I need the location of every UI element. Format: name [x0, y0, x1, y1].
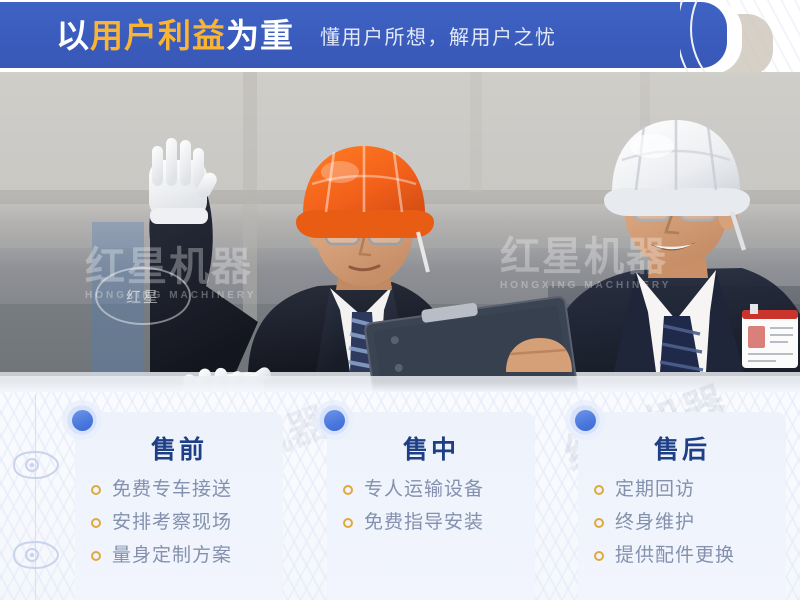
list-item[interactable]: 免费专车接送 — [91, 480, 283, 501]
card-item-list: 定期回访 终身维护 提供配件更换 — [578, 480, 786, 567]
list-item[interactable]: 终身维护 — [594, 513, 786, 534]
list-item-label: 安排考察现场 — [112, 513, 232, 534]
watermark-seal-icon: 红星 — [95, 267, 191, 325]
list-item[interactable]: 提供配件更换 — [594, 546, 786, 567]
list-item-label: 定期回访 — [615, 480, 695, 501]
list-item-label: 专人运输设备 — [364, 480, 484, 501]
bullet-circle-icon — [594, 485, 604, 495]
card-marker-dot-after-sale — [565, 400, 605, 440]
banner-title: 以用户利益为重 — [56, 19, 294, 52]
card-marker-dot-during-sale — [314, 400, 354, 440]
watermark-seal-label: 红星 — [126, 286, 160, 307]
hero-photo: 红星机器 HONGXING MACHINERY 红星机器 HONGXING MA… — [0, 72, 800, 392]
banner-subtitle: 懂用户所想，解用户之忧 — [320, 21, 557, 50]
card-marker-dot-pre-sale — [62, 400, 102, 440]
list-item[interactable]: 定期回访 — [594, 480, 786, 501]
list-item[interactable]: 免费指导安装 — [343, 513, 535, 534]
bullet-circle-icon — [343, 518, 353, 528]
service-cards: 售前 免费专车接送 安排考察现场 量身定制方案 售中 — [0, 398, 800, 600]
bullet-circle-icon — [91, 551, 101, 561]
bullet-circle-icon — [594, 518, 604, 528]
banner-title-highlight: 用户利益 — [90, 17, 226, 54]
card-title: 售后 — [578, 430, 786, 466]
service-card-after-sale[interactable]: 售后 定期回访 终身维护 提供配件更换 — [578, 412, 786, 600]
banner-title-prefix: 以 — [56, 17, 90, 54]
list-item-label: 免费指导安装 — [364, 513, 484, 534]
list-item-label: 终身维护 — [615, 513, 695, 534]
card-title: 售中 — [327, 430, 535, 466]
service-card-pre-sale[interactable]: 售前 免费专车接送 安排考察现场 量身定制方案 — [75, 412, 283, 600]
bullet-circle-icon — [91, 485, 101, 495]
card-item-list: 免费专车接送 安排考察现场 量身定制方案 — [75, 480, 283, 567]
bullet-circle-icon — [343, 485, 353, 495]
list-item[interactable]: 安排考察现场 — [91, 513, 283, 534]
header-banner: 以用户利益为重 懂用户所想，解用户之忧 — [0, 2, 727, 68]
card-item-list: 专人运输设备 免费指导安装 — [327, 480, 535, 534]
service-card-during-sale[interactable]: 售中 专人运输设备 免费指导安装 — [327, 412, 535, 600]
card-title: 售前 — [75, 430, 283, 466]
banner-title-suffix: 为重 — [226, 17, 294, 54]
hero-photo-illustration — [0, 72, 800, 392]
list-item-label: 量身定制方案 — [112, 546, 232, 567]
bullet-circle-icon — [594, 551, 604, 561]
list-item[interactable]: 量身定制方案 — [91, 546, 283, 567]
photo-bottom-fade — [0, 382, 800, 392]
promo-page: 以用户利益为重 懂用户所想，解用户之忧 — [0, 0, 800, 600]
list-item-label: 提供配件更换 — [615, 546, 735, 567]
list-item-label: 免费专车接送 — [112, 480, 232, 501]
bullet-circle-icon — [91, 518, 101, 528]
list-item[interactable]: 专人运输设备 — [343, 480, 535, 501]
